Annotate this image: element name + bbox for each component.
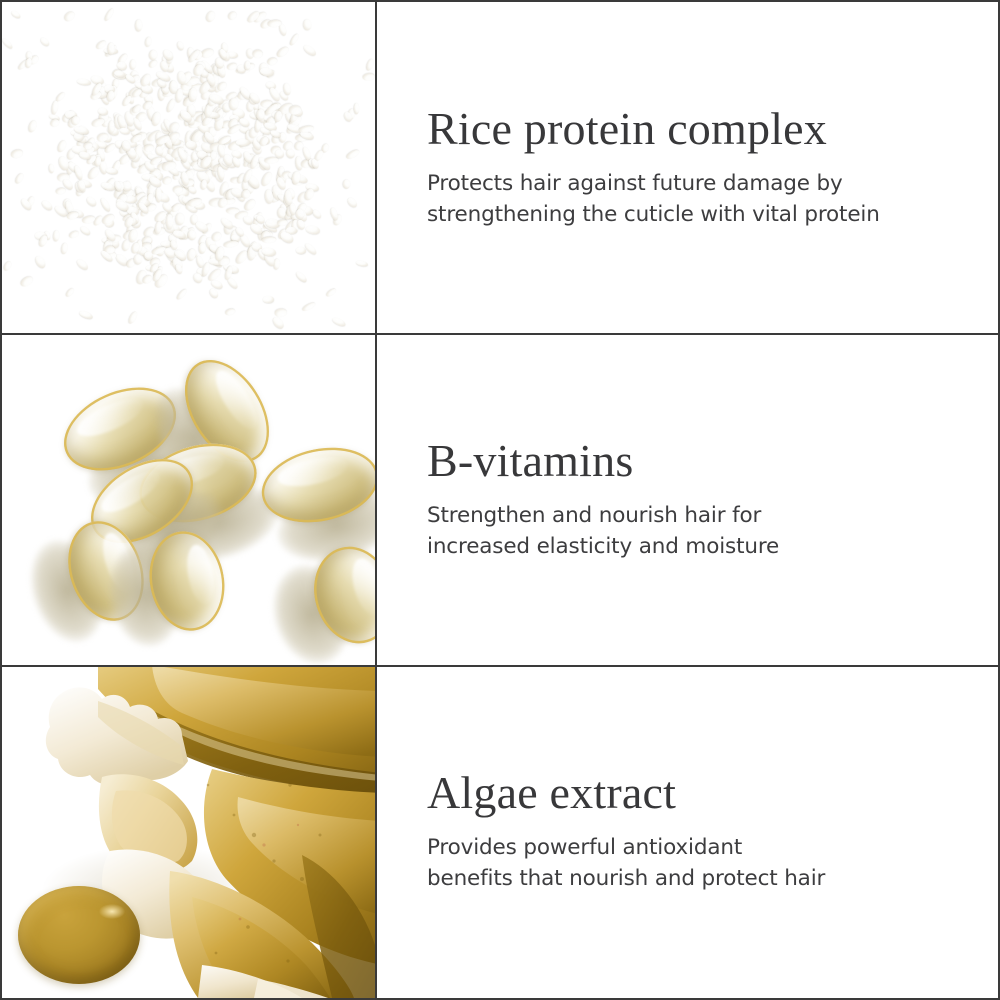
rice-grain — [73, 165, 84, 181]
rice-grain — [223, 240, 239, 249]
softgel-capsule-stage — [2, 333, 375, 665]
rice-grain — [175, 213, 185, 226]
rice-grain — [144, 144, 154, 152]
algae-heading: Algae extract — [427, 768, 968, 818]
rice-grain — [63, 10, 76, 23]
rice-grain — [295, 271, 308, 284]
horizontal-divider-1 — [2, 333, 998, 335]
rice-grain — [26, 119, 37, 133]
rice-heading: Rice protein complex — [427, 104, 968, 154]
rice-grain — [67, 211, 80, 221]
rice-grain — [200, 179, 207, 190]
b-vitamins-heading: B-vitamins — [427, 436, 968, 486]
panel-rice-protein-complex: Rice protein complex Protects hair again… — [2, 2, 998, 333]
rice-grain — [274, 110, 284, 122]
rice-grain — [34, 255, 48, 270]
rice-grain — [233, 249, 249, 266]
rice-grain — [199, 242, 206, 253]
rice-grain — [277, 207, 285, 218]
algae-image — [2, 665, 375, 998]
rice-grain — [275, 308, 287, 317]
rice-grain — [76, 78, 91, 86]
rice-grain — [226, 208, 239, 214]
rice-grain — [40, 198, 54, 212]
rice-grain — [99, 196, 112, 212]
b-vitamins-text-block: B-vitamins Strengthen and nourish hair f… — [377, 333, 998, 665]
rice-grain-stage — [2, 2, 375, 333]
rice-grain — [260, 66, 275, 76]
vertical-divider-2 — [375, 335, 377, 665]
rice-grain — [135, 254, 143, 265]
rice-grain — [166, 215, 173, 231]
rice-grain — [39, 36, 50, 47]
rice-grain — [252, 49, 263, 57]
capsules-image — [2, 333, 375, 665]
rice-image — [2, 2, 375, 333]
rice-grain — [262, 296, 273, 303]
rice-grain — [262, 237, 276, 244]
b-vitamins-description-line-1: Strengthen and nourish hair for — [427, 500, 968, 531]
horizontal-divider-2 — [2, 665, 998, 667]
rice-grain — [302, 301, 316, 312]
rice-grain — [186, 248, 197, 262]
rice-grain — [53, 230, 59, 241]
rice-grain — [266, 57, 278, 67]
rice-grain — [144, 37, 152, 48]
rice-grain — [2, 260, 13, 272]
rice-grain — [356, 259, 369, 266]
rice-text-block: Rice protein complex Protects hair again… — [377, 2, 998, 333]
rice-grain — [76, 258, 90, 272]
rice-grain — [136, 20, 143, 32]
softgel-capsule — [303, 537, 375, 653]
rice-grain — [127, 311, 139, 326]
rice-grain — [188, 87, 197, 102]
rice-grain — [175, 288, 188, 301]
vertical-divider-3 — [375, 667, 377, 998]
vertical-divider-1 — [375, 2, 377, 333]
rice-grain — [362, 72, 375, 81]
algae-description-line-1: Provides powerful antioxidant — [427, 832, 968, 863]
rice-grain — [275, 46, 290, 59]
softgel-capsule — [255, 438, 375, 533]
rice-grain — [303, 44, 318, 58]
algae-description-line-2: benefits that nourish and protect hair — [427, 863, 968, 894]
rice-grain — [365, 58, 375, 71]
rice-grain — [2, 38, 14, 51]
panel-b-vitamins: B-vitamins Strengthen and nourish hair f… — [2, 333, 998, 665]
rice-grain — [271, 315, 285, 330]
rice-grain — [304, 242, 318, 256]
rice-grain — [176, 40, 185, 51]
rice-grain — [265, 189, 274, 204]
rice-grain — [56, 139, 67, 153]
rice-grain — [219, 216, 234, 230]
algae-description: Provides powerful antioxidant benefits t… — [427, 832, 968, 894]
rice-description-line-2: strengthening the cuticle with vital pro… — [427, 199, 968, 230]
rice-description: Protects hair against future damage by s… — [427, 168, 968, 230]
panel-algae-extract: Algae extract Provides powerful antioxid… — [2, 665, 998, 998]
rice-grain — [324, 287, 337, 298]
rice-grain — [305, 224, 321, 234]
rice-grain — [79, 225, 92, 236]
rice-grain — [187, 185, 198, 195]
rice-grain — [187, 230, 196, 241]
b-vitamins-description: Strengthen and nourish hair for increase… — [427, 500, 968, 562]
rice-grain — [331, 316, 346, 327]
algae-text-block: Algae extract Provides powerful antioxid… — [377, 665, 998, 998]
rice-grain — [85, 195, 98, 208]
rice-grain — [346, 148, 361, 160]
rice-grain — [11, 148, 24, 158]
rice-grain — [103, 7, 115, 22]
rice-grain — [264, 156, 279, 164]
rice-grain — [107, 43, 115, 55]
rice-grain — [224, 308, 235, 316]
b-vitamins-description-line-2: increased elasticity and moisture — [427, 531, 968, 562]
rice-grain — [288, 33, 299, 46]
algae-oil-droplet — [18, 886, 140, 984]
rice-grain — [346, 197, 358, 209]
rice-grain — [11, 10, 22, 20]
rice-grain — [169, 80, 177, 93]
rice-grain — [69, 231, 80, 240]
rice-grain — [353, 103, 359, 114]
rice-grain — [48, 164, 54, 173]
rice-grain — [56, 187, 66, 195]
rice-grain — [298, 125, 313, 133]
rice-grain — [259, 171, 274, 188]
rice-description-line-1: Protects hair against future damage by — [427, 168, 968, 199]
rice-grain — [51, 100, 59, 115]
rice-grain — [78, 309, 93, 320]
rice-grain — [204, 10, 216, 23]
rice-grain — [343, 180, 350, 189]
rice-grain — [65, 288, 75, 299]
rice-grain — [19, 275, 34, 288]
ingredient-benefits-card: Rice protein complex Protects hair again… — [0, 0, 1000, 1000]
rice-grain — [227, 10, 238, 21]
rice-grain — [15, 172, 26, 184]
rice-grain — [130, 59, 136, 69]
rice-grain — [148, 50, 157, 61]
kelp-frond-stage — [2, 665, 375, 998]
rice-grain — [303, 19, 311, 30]
rice-grain — [61, 243, 68, 255]
